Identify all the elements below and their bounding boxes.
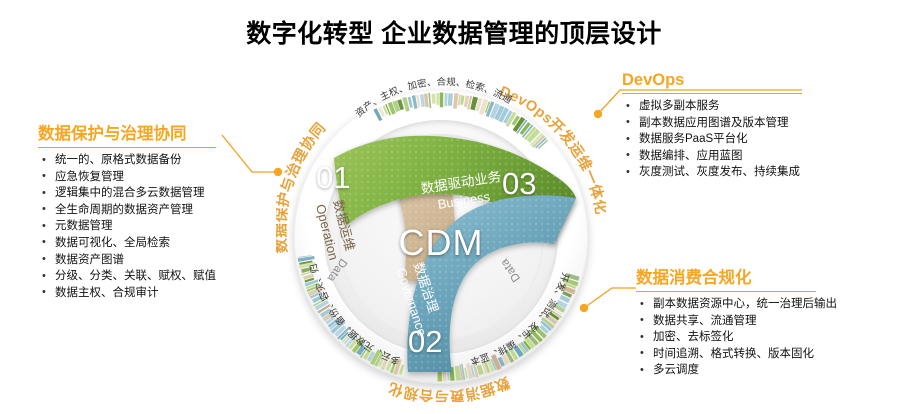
list-item: 应急恢复管理 — [38, 169, 216, 186]
outer-arc-label-bottom: 数据消费与合规化 — [386, 373, 512, 402]
panel-heading: 数据消费合规化 — [636, 268, 837, 291]
keyword-arc-right: 开发、测试、发布、编排、蓝本、PaaS — [276, 72, 571, 367]
list-item: 数据资产图谱 — [38, 252, 216, 269]
outer-arc-text-right: DevOps开发运维一体化 — [497, 84, 606, 216]
list-item: 数据编排、应用蓝图 — [622, 148, 802, 165]
panel-bullet-list: 副本数据资源中心，统一治理后输出 数据共享、流通管理 加密、去标签化 时间追溯、… — [636, 296, 837, 379]
list-item-sub: 分级、分类、关联、赋权、赋值 — [38, 268, 216, 285]
list-item: 全生命周期的数据资产管理 — [38, 202, 216, 219]
panel-heading: DevOps — [622, 70, 802, 93]
list-item: 灰度测试、灰度发布、持续集成 — [622, 164, 802, 181]
list-item: 数据共享、流通管理 — [636, 313, 837, 330]
keyword-arc-text-right: 开发、测试、发布、编排、蓝本、PaaS — [276, 72, 571, 367]
list-item: 副本数据应用图谱及版本管理 — [622, 115, 802, 132]
callout-panel-devops: DevOps 虚拟多副本服务 副本数据应用图谱及版本管理 数据服务PaaS平台化… — [622, 70, 802, 181]
slide-canvas: 数字化转型 企业数据管理的顶层设计 数据保护与治理协同 统一的、原格式数据备份 … — [0, 0, 908, 414]
list-item-sub-text: 分级、分类、关联、赋权、赋值 — [55, 270, 216, 282]
panel-bullet-list: 统一的、原格式数据备份 应急恢复管理 逻辑集中的混合多云数据管理 全生命周期的数… — [38, 152, 216, 301]
keyword-arc-text-top: 资产、主权、加密、合规、检索、流通 — [354, 76, 514, 120]
wheel-center-label: CDM — [276, 222, 606, 264]
list-item: 多云调度 — [636, 362, 837, 379]
callout-panel-data-consumption: 数据消费合规化 副本数据资源中心，统一治理后输出 数据共享、流通管理 加密、去标… — [636, 268, 837, 379]
callout-panel-data-protection: 数据保护与治理协同 统一的、原格式数据备份 应急恢复管理 逻辑集中的混合多云数据… — [38, 124, 216, 301]
list-item: 统一的、原格式数据备份 — [38, 152, 216, 169]
outer-arc-label-right: DevOps开发运维一体化 — [497, 84, 606, 216]
panel-underline — [38, 147, 216, 148]
list-item: 加密、去标签化 — [636, 329, 837, 346]
outer-arc-text-bottom: 数据消费与合规化 — [386, 373, 512, 402]
list-item: 数据主权、合规审计 — [38, 285, 216, 302]
list-item: 时间追溯、格式转换、版本固化 — [636, 346, 837, 363]
cdm-wheel-diagram: Data Data Data — [276, 72, 606, 402]
list-item: 副本数据资源中心，统一治理后输出 — [636, 296, 837, 313]
panel-bullet-list: 虚拟多副本服务 副本数据应用图谱及版本管理 数据服务PaaS平台化 数据编排、应… — [622, 98, 802, 181]
list-item: 元数据管理 — [38, 218, 216, 235]
keyword-arc-text-left: 多云、元数据、备份、容灾、归档、检索 — [276, 72, 402, 367]
list-item: 数据服务PaaS平台化 — [622, 131, 802, 148]
list-item: 数据可视化、全局检索 — [38, 235, 216, 252]
panel-heading: 数据保护与治理协同 — [38, 124, 216, 147]
keyword-arc-left: 多云、元数据、备份、容灾、归档、检索 — [276, 72, 402, 367]
keyword-arc-top: 资产、主权、加密、合规、检索、流通 — [354, 76, 514, 120]
panel-underline — [622, 93, 802, 94]
list-item: 虚拟多副本服务 — [622, 98, 802, 115]
panel-underline — [636, 291, 816, 292]
list-item: 逻辑集中的混合多云数据管理 — [38, 185, 216, 202]
page-title: 数字化转型 企业数据管理的顶层设计 — [0, 14, 908, 50]
